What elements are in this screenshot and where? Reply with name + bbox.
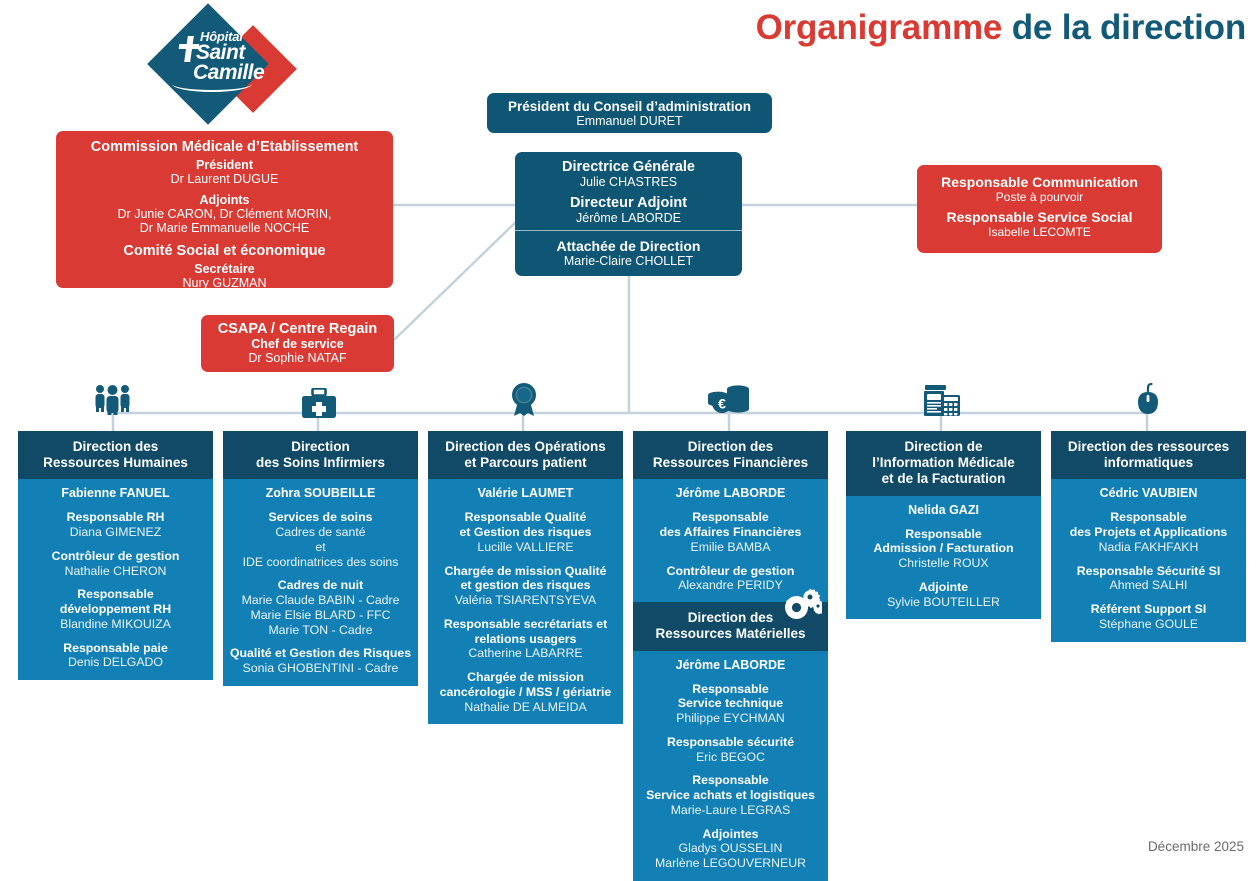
staff-group: Référent Support SIStéphane GOULE	[1056, 602, 1241, 632]
staff-group: Chargée de missioncancérologie / MSS / g…	[433, 670, 618, 714]
header-line: Direction de	[852, 439, 1035, 455]
department-lead-name: Zohra SOUBEILLE	[228, 486, 413, 501]
directrice-generale-role: Directrice Générale	[515, 159, 742, 175]
attachee-direction-name: Marie-Claire CHOLLET	[515, 254, 742, 268]
department-lead-name: Fabienne FANUEL	[23, 486, 208, 501]
staff-group: AdjointesGladys OUSSELINMarlène LEGOUVER…	[638, 827, 823, 871]
page-title-part1: Organigramme	[756, 8, 1003, 47]
header-line: Ressources Financières	[639, 455, 822, 471]
staff-group: AdjointeSylvie BOUTEILLER	[851, 580, 1036, 610]
department-column-ressources-informatiques[interactable]: Direction des ressourcesinformatiquesCéd…	[1051, 431, 1246, 642]
staff-name: Catherine LABARRE	[433, 646, 618, 661]
staff-role: Responsable	[1056, 510, 1241, 525]
department-body: Valérie LAUMETResponsable Qualitéet Gest…	[428, 479, 623, 724]
staff-role: Contrôleur de gestion	[23, 549, 208, 564]
staff-group: Qualité et Gestion des RisquesSonia GHOB…	[228, 646, 413, 676]
staff-name: Marie Claude BABIN - Cadre	[228, 593, 413, 608]
staff-role: Responsable	[638, 773, 823, 788]
staff-role: et gestion des risques	[433, 578, 618, 593]
page-title-part2: de la direction	[1012, 8, 1246, 47]
staff-role: Adjointe	[851, 580, 1036, 595]
csapa-centre-regain-box[interactable]: CSAPA / Centre Regain Chef de service Dr…	[201, 315, 394, 372]
header-line: Ressources Humaines	[24, 455, 207, 471]
staff-role: Adjointes	[638, 827, 823, 842]
staff-name: Philippe EYCHMAN	[638, 711, 823, 726]
staff-name: Blandine MIKOUIZA	[23, 617, 208, 632]
department-header: Direction desRessources Financières	[633, 431, 828, 479]
header-line: et de la Facturation	[852, 471, 1035, 487]
department-lead-name: Jérôme LABORDE	[638, 486, 823, 501]
staff-role: Responsable paie	[23, 641, 208, 656]
staff-name: Marie Elsie BLARD - FFC	[228, 608, 413, 623]
president-conseil-administration-box[interactable]: Président du Conseil d’administration Em…	[487, 93, 772, 133]
staff-role: Cadres de nuit	[228, 578, 413, 593]
staff-name: Valéria TSIARENTSYEVA	[433, 593, 618, 608]
staff-group: Contrôleur de gestionNathalie CHERON	[23, 549, 208, 579]
staff-role: Référent Support SI	[1056, 602, 1241, 617]
header-line: Direction des Opérations	[434, 439, 617, 455]
csapa-title: CSAPA / Centre Regain	[201, 321, 394, 337]
staff-name: Stéphane GOULE	[1056, 617, 1241, 632]
logo-line-3: Camille	[193, 62, 264, 83]
header-line: et Parcours patient	[434, 455, 617, 471]
staff-role: Contrôleur de gestion	[638, 564, 823, 579]
staff-group: ResponsableService techniquePhilippe EYC…	[638, 682, 823, 726]
attachee-direction-box[interactable]: Attachée de Direction Marie-Claire CHOLL…	[515, 231, 742, 276]
staff-name: Emilie BAMBA	[638, 540, 823, 555]
subsection-body: Jérôme LABORDEResponsableService techniq…	[638, 651, 823, 871]
medical-kit-icon	[300, 388, 338, 423]
department-body: Jérôme LABORDEResponsabledes Affaires Fi…	[633, 479, 828, 880]
staff-role: des Affaires Financières	[638, 525, 823, 540]
department-column-ressources-humaines[interactable]: Direction desRessources HumainesFabienne…	[18, 431, 213, 680]
staff-group: Responsable paieDenis DELGADO	[23, 641, 208, 671]
cse-name-secretaire: Nury GUZMAN	[56, 276, 393, 290]
subsection-lead-name: Jérôme LABORDE	[638, 658, 823, 673]
staff-group: Services de soinsCadres de santéetIDE co…	[228, 510, 413, 569]
attachee-direction-role: Attachée de Direction	[515, 238, 742, 254]
department-header: Direction desRessources Humaines	[18, 431, 213, 479]
footer-date: Décembre 2025	[1148, 839, 1244, 854]
staff-group: Responsabledéveloppement RHBlandine MIKO…	[23, 587, 208, 631]
staff-name: Denis DELGADO	[23, 655, 208, 670]
line-csapa-to-dg	[394, 218, 520, 340]
staff-group: Responsable sécuritéEric BEGOC	[638, 735, 823, 765]
communication-service-social-box[interactable]: Responsable Communication Poste à pourvo…	[917, 165, 1162, 253]
staff-name: Marie TON - Cadre	[228, 623, 413, 638]
staff-role: Responsable	[851, 527, 1036, 542]
department-column-ressources-financieres[interactable]: Direction desRessources FinancièresJérôm…	[633, 431, 828, 881]
page-title: Organigramme de la direction	[756, 8, 1246, 48]
staff-role: Chargée de mission Qualité	[433, 564, 618, 579]
responsable-communication-name: Poste à pourvoir	[917, 190, 1162, 204]
responsable-service-social-role: Responsable Service Social	[917, 209, 1162, 225]
hospital-logo: Hôpital Saint Camille	[160, 14, 310, 119]
cme-role-adjoints: Adjoints	[56, 193, 393, 207]
header-line: Direction des ressources	[1057, 439, 1240, 455]
cse-title: Comité Social et économique	[56, 243, 393, 259]
staff-name: Nathalie DE ALMEIDA	[433, 700, 618, 715]
header-line: l’Information Médicale	[852, 455, 1035, 471]
department-lead-name: Nelida GAZI	[851, 503, 1036, 518]
department-body: Fabienne FANUELResponsable RHDiana GIMEN…	[18, 479, 213, 680]
staff-group: Responsable RHDiana GIMENEZ	[23, 510, 208, 540]
department-header: Direction des Opérationset Parcours pati…	[428, 431, 623, 479]
staff-role: Chargée de mission	[433, 670, 618, 685]
staff-name: Nadia FAKHFAKH	[1056, 540, 1241, 555]
staff-role: Services de soins	[228, 510, 413, 525]
cme-name-adjoints-1: Dr Junie CARON, Dr Clément MORIN,	[56, 207, 393, 221]
staff-role: Responsable	[23, 587, 208, 602]
header-line: Direction	[229, 439, 412, 455]
staff-name: Gladys OUSSELIN	[638, 841, 823, 856]
staff-name: Lucille VALLIERE	[433, 540, 618, 555]
logo-line-2: Saint	[196, 42, 245, 63]
president-ca-title: Président du Conseil d’administration	[487, 99, 772, 114]
department-column-soins-infirmiers[interactable]: Directiondes Soins InfirmiersZohra SOUBE…	[223, 431, 418, 686]
staff-role: des Projets et Applications	[1056, 525, 1241, 540]
directeur-adjoint-role: Directeur Adjoint	[515, 195, 742, 211]
department-header: Directiondes Soins Infirmiers	[223, 431, 418, 479]
staff-role: cancérologie / MSS / gériatrie	[433, 685, 618, 700]
staff-role: Admission / Facturation	[851, 541, 1036, 556]
staff-name: Sonia GHOBENTINI - Cadre	[228, 661, 413, 676]
staff-group: Responsable Sécurité SIAhmed SALHI	[1056, 564, 1241, 594]
header-line: des Soins Infirmiers	[229, 455, 412, 471]
staff-group: Responsabledes Projets et ApplicationsNa…	[1056, 510, 1241, 554]
cse-role-secretaire: Secrétaire	[56, 262, 393, 276]
department-header: Direction des ressourcesinformatiques	[1051, 431, 1246, 479]
logo-text: Hôpital Saint Camille	[164, 30, 284, 100]
staff-group: Cadres de nuitMarie Claude BABIN - Cadre…	[228, 578, 413, 637]
organigramme-canvas: Hôpital Saint Camille Organigramme de la…	[0, 0, 1260, 862]
header-line: Direction des	[24, 439, 207, 455]
department-body: Cédric VAUBIENResponsabledes Projets et …	[1051, 479, 1246, 641]
award-ribbon-icon	[508, 382, 540, 421]
csapa-name: Dr Sophie NATAF	[201, 351, 394, 365]
directrice-generale-name: Julie CHASTRES	[515, 175, 742, 189]
department-lead-name: Cédric VAUBIEN	[1056, 486, 1241, 501]
department-lead-name: Valérie LAUMET	[433, 486, 618, 501]
invoice-calculator-icon	[923, 384, 961, 421]
responsable-communication-role: Responsable Communication	[917, 174, 1162, 190]
staff-group: ResponsableService achats et logistiques…	[638, 773, 823, 817]
cme-name-adjoints-2: Dr Marie Emmanuelle NOCHE	[56, 221, 393, 235]
commission-medicale-box[interactable]: Commission Médicale d’Etablissement Prés…	[56, 131, 393, 288]
staff-name: Ahmed SALHI	[1056, 578, 1241, 593]
staff-role: Responsable Qualité	[433, 510, 618, 525]
department-body: Nelida GAZIResponsableAdmission / Factur…	[846, 496, 1041, 620]
staff-name: Sylvie BOUTEILLER	[851, 595, 1036, 610]
euro-coins-icon: €	[706, 384, 752, 421]
staff-role: Responsable	[638, 510, 823, 525]
staff-name: IDE coordinatrices des soins	[228, 555, 413, 570]
cme-name-president: Dr Laurent DUGUE	[56, 172, 393, 186]
staff-group: Chargée de mission Qualitéet gestion des…	[433, 564, 618, 608]
responsable-service-social-name: Isabelle LECOMTE	[917, 225, 1162, 239]
staff-group: Responsabledes Affaires FinancièresEmili…	[638, 510, 823, 554]
staff-role: Qualité et Gestion des Risques	[228, 646, 413, 661]
department-header: Direction del’Information Médicaleet de …	[846, 431, 1041, 496]
direction-generale-divider	[515, 230, 742, 231]
gears-icon	[776, 588, 822, 628]
president-ca-name: Emmanuel DURET	[487, 114, 772, 128]
svg-text:€: €	[718, 396, 726, 412]
header-line: Direction des	[639, 439, 822, 455]
staff-role: relations usagers	[433, 632, 618, 647]
staff-name: Christelle ROUX	[851, 556, 1036, 571]
staff-role: et Gestion des risques	[433, 525, 618, 540]
department-column-information-medicale-facturation[interactable]: Direction del’Information Médicaleet de …	[846, 431, 1041, 619]
computer-mouse-icon	[1135, 383, 1161, 420]
staff-group: Responsable secrétariats etrelations usa…	[433, 617, 618, 661]
directeur-adjoint-name: Jérôme LABORDE	[515, 211, 742, 225]
staff-name: et	[228, 540, 413, 555]
csapa-role: Chef de service	[201, 337, 394, 351]
department-body: Zohra SOUBEILLEServices de soinsCadres d…	[223, 479, 418, 686]
staff-group: ResponsableAdmission / FacturationChrist…	[851, 527, 1036, 571]
staff-role: Service technique	[638, 696, 823, 711]
staff-name: Cadres de santé	[228, 525, 413, 540]
staff-name: Marie-Laure LEGRAS	[638, 803, 823, 818]
staff-role: Responsable secrétariats et	[433, 617, 618, 632]
staff-name: Nathalie CHERON	[23, 564, 208, 579]
header-line: informatiques	[1057, 455, 1240, 471]
staff-role: Service achats et logistiques	[638, 788, 823, 803]
staff-group: Responsable Qualitéet Gestion des risque…	[433, 510, 618, 554]
direction-generale-box[interactable]: Directrice Générale Julie CHASTRES Direc…	[515, 152, 742, 230]
staff-role: Responsable sécurité	[638, 735, 823, 750]
cme-title: Commission Médicale d’Etablissement	[56, 139, 393, 155]
staff-name: Marlène LEGOUVERNEUR	[638, 856, 823, 871]
cme-role-president: Président	[56, 158, 393, 172]
staff-role: Responsable Sécurité SI	[1056, 564, 1241, 579]
staff-role: Responsable RH	[23, 510, 208, 525]
subsection-header: Direction desRessources Matérielles	[633, 602, 828, 650]
staff-name: Diana GIMENEZ	[23, 525, 208, 540]
header-line: Ressources Matérielles	[639, 626, 822, 642]
staff-role: Responsable	[638, 682, 823, 697]
people-group-icon	[91, 383, 135, 420]
staff-name: Eric BEGOC	[638, 750, 823, 765]
staff-role: développement RH	[23, 602, 208, 617]
department-column-operations-parcours-patient[interactable]: Direction des Opérationset Parcours pati…	[428, 431, 623, 724]
